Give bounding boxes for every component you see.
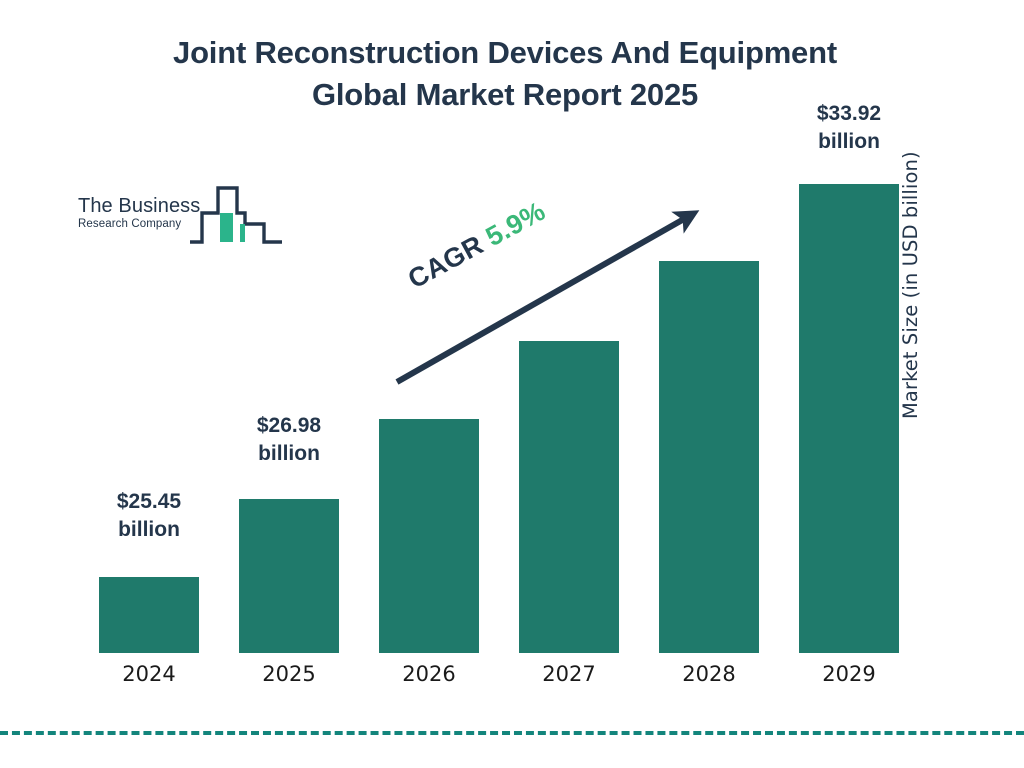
bar-2024 (99, 577, 199, 653)
x-tick-2028: 2028 (659, 662, 759, 686)
bar-label-2029-unit: billion (818, 130, 880, 153)
x-tick-2026: 2026 (379, 662, 479, 686)
bar-2028 (659, 261, 759, 653)
bar-label-2024: $25.45 billion (99, 488, 199, 545)
footer-divider (0, 731, 1024, 735)
bar-label-2024-value: $25.45 (117, 490, 181, 513)
bar-label-2025-value: $26.98 (257, 414, 321, 437)
bar-label-2024-unit: billion (118, 518, 180, 541)
bar-2027 (519, 341, 619, 653)
bar-label-2029-value: $33.92 (817, 102, 881, 125)
x-tick-2024: 2024 (99, 662, 199, 686)
bar-label-2025-unit: billion (258, 442, 320, 465)
x-tick-2029: 2029 (799, 662, 899, 686)
x-tick-2025: 2025 (239, 662, 339, 686)
bar-label-2029: $33.92 billion (789, 100, 909, 157)
bar-2026 (379, 419, 479, 653)
chart-canvas: Joint Reconstruction Devices And Equipme… (0, 0, 1024, 768)
bar-chart-plot: $25.45 billion 2024 $26.98 billion 2025 … (0, 0, 1024, 768)
bar-2025 (239, 499, 339, 653)
bar-label-2025: $26.98 billion (239, 412, 339, 469)
y-axis-label: Market Size (in USD billion) (899, 89, 922, 419)
x-tick-2027: 2027 (519, 662, 619, 686)
bar-2029 (799, 184, 899, 653)
